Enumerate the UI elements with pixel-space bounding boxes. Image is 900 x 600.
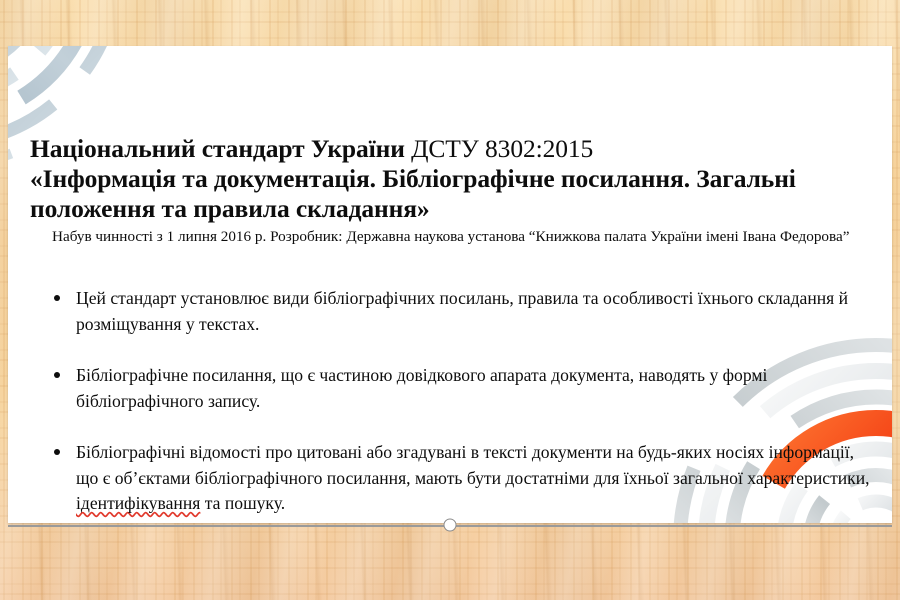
title-line-2: «Інформація та документація. Бібліографі… [30, 164, 880, 194]
bullet-text: Цей стандарт установлює види бібліографі… [76, 288, 848, 334]
presentation-screen: Національний стандарт України ДСТУ 8302:… [0, 0, 900, 600]
title-bold-part: Національний стандарт України [30, 134, 411, 163]
slide-resize-handle[interactable] [444, 519, 457, 532]
title-line-1: Національний стандарт України ДСТУ 8302:… [30, 134, 880, 164]
bullet-text: Бібліографічне посилання, що є частиною … [76, 365, 767, 411]
slide-content: Національний стандарт України ДСТУ 8302:… [8, 46, 892, 523]
list-item: Бібліографічне посилання, що є частиною … [38, 363, 878, 414]
bullet-dot-icon [54, 372, 60, 378]
slide-subtitle: Набув чинності з 1 липня 2016 р. Розробн… [30, 227, 880, 247]
misspelled-word: ідентифікування [76, 493, 200, 513]
slide-title: Національний стандарт України ДСТУ 8302:… [30, 134, 880, 224]
bullet-text-suffix: та пошуку. [200, 493, 285, 513]
bullet-dot-icon [54, 295, 60, 301]
list-item: Цей стандарт установлює види бібліографі… [38, 286, 878, 337]
title-standard-number: ДСТУ 8302:2015 [411, 134, 593, 163]
bullet-list: Цей стандарт установлює види бібліографі… [38, 286, 878, 517]
title-line-3: положення та правила складання» [30, 194, 880, 224]
bullet-text-prefix: Бібліографічні відомості про цитовані аб… [76, 442, 870, 488]
list-item: Бібліографічні відомості про цитовані аб… [38, 440, 878, 517]
bullet-dot-icon [54, 449, 60, 455]
slide-canvas: Національний стандарт України ДСТУ 8302:… [8, 46, 892, 523]
